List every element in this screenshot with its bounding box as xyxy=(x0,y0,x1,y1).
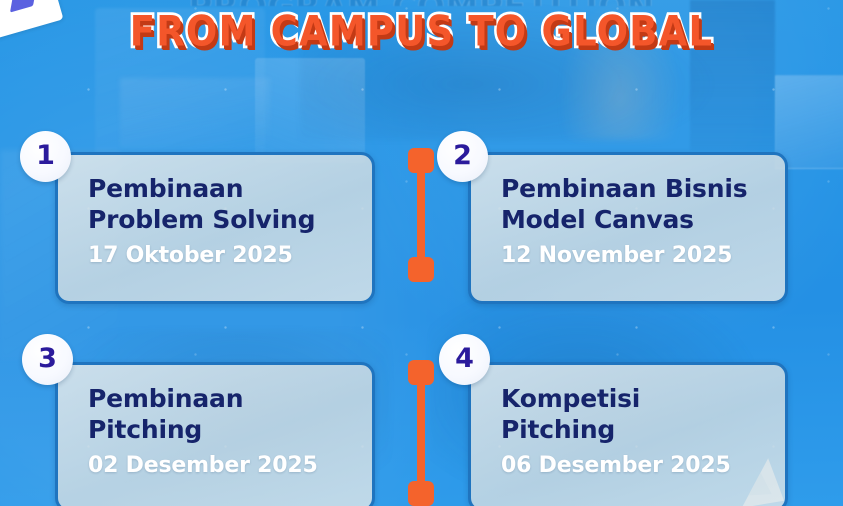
step-date: 17 Oktober 2025 xyxy=(88,242,356,270)
connector-lower xyxy=(408,360,434,506)
connector-cap-bottom xyxy=(408,257,434,282)
step-number: 1 xyxy=(36,142,55,169)
poster-canvas: PROGRAM COMPETITION FROM CAMPUS TO GLOBA… xyxy=(0,0,843,506)
step-number: 3 xyxy=(38,345,57,372)
step-number: 4 xyxy=(455,345,474,372)
step-number: 2 xyxy=(453,142,472,169)
step-date: 12 November 2025 xyxy=(501,242,769,270)
poster-headline: FROM CAMPUS TO GLOBAL xyxy=(130,7,714,55)
connector-cap-bottom xyxy=(408,481,434,506)
step-date: 02 Desember 2025 xyxy=(88,452,356,480)
step-number-badge: 2 xyxy=(437,131,488,182)
connector-dashed-line xyxy=(417,380,425,486)
step-title: Kompetisi Pitching xyxy=(501,383,769,445)
timeline-step-card[interactable]: Kompetisi Pitching 06 Desember 2025 xyxy=(468,362,788,506)
step-number-badge: 4 xyxy=(439,334,490,385)
poster-kicker: PROGRAM COMPETITION xyxy=(0,0,843,6)
step-number-badge: 3 xyxy=(22,334,73,385)
step-number-badge: 1 xyxy=(20,131,71,182)
step-date: 06 Desember 2025 xyxy=(501,452,769,480)
timeline-step-card[interactable]: Pembinaan Bisnis Model Canvas 12 Novembe… xyxy=(468,152,788,304)
step-title: Pembinaan Bisnis Model Canvas xyxy=(501,173,769,235)
poster-header: PROGRAM COMPETITION FROM CAMPUS TO GLOBA… xyxy=(0,0,843,53)
connector-dashed-line xyxy=(417,168,425,262)
connector-upper xyxy=(408,148,434,282)
timeline-step-card[interactable]: Pembinaan Problem Solving 17 Oktober 202… xyxy=(55,152,375,304)
timeline-step-card[interactable]: Pembinaan Pitching 02 Desember 2025 xyxy=(55,362,375,506)
step-title: Pembinaan Problem Solving xyxy=(88,173,356,235)
step-title: Pembinaan Pitching xyxy=(88,383,356,445)
timeline: Pembinaan Problem Solving 17 Oktober 202… xyxy=(0,0,843,506)
